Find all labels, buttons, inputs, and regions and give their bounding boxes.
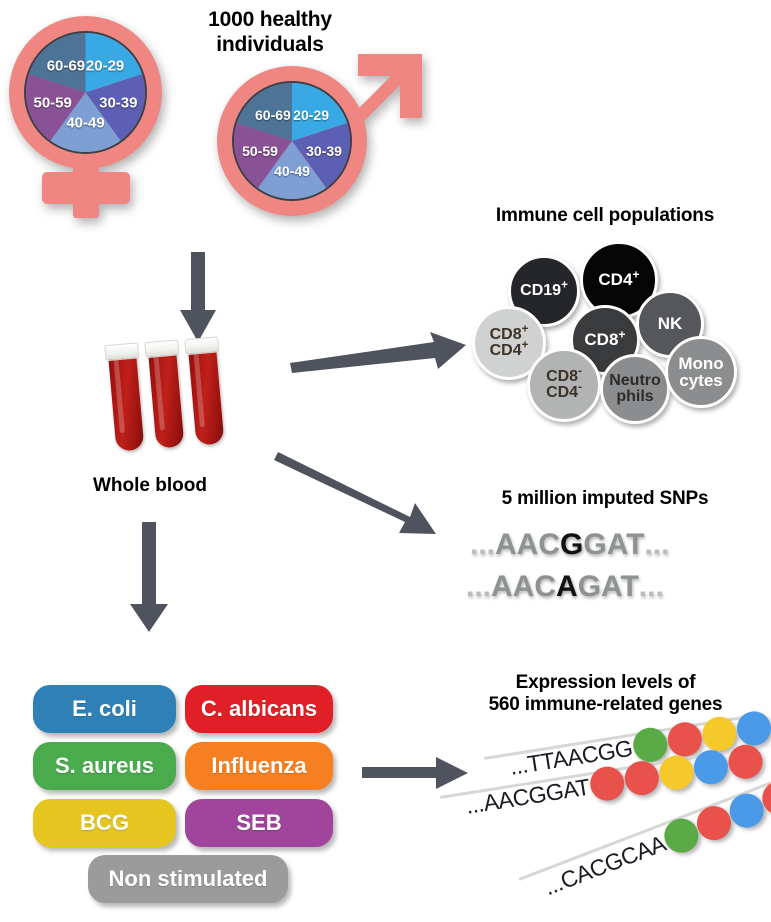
strand-bead-yellow: [657, 753, 696, 792]
expression-strands: ...TTAACGG...AACGGAT...CACGCAA: [0, 0, 771, 922]
diagram-canvas: 1000 healthy individuals 20-2930-3940-49…: [0, 0, 771, 922]
strand-bead-red: [588, 764, 627, 803]
strand-sequence-text: ...CACGCAA: [540, 830, 669, 901]
strand-bead-red: [622, 759, 661, 798]
strand-sequence-text: ...AACGGAT: [464, 773, 592, 819]
strand-bead-blue: [734, 709, 771, 748]
strand-bead-blue: [691, 748, 730, 787]
strand-bead-red: [726, 742, 765, 781]
